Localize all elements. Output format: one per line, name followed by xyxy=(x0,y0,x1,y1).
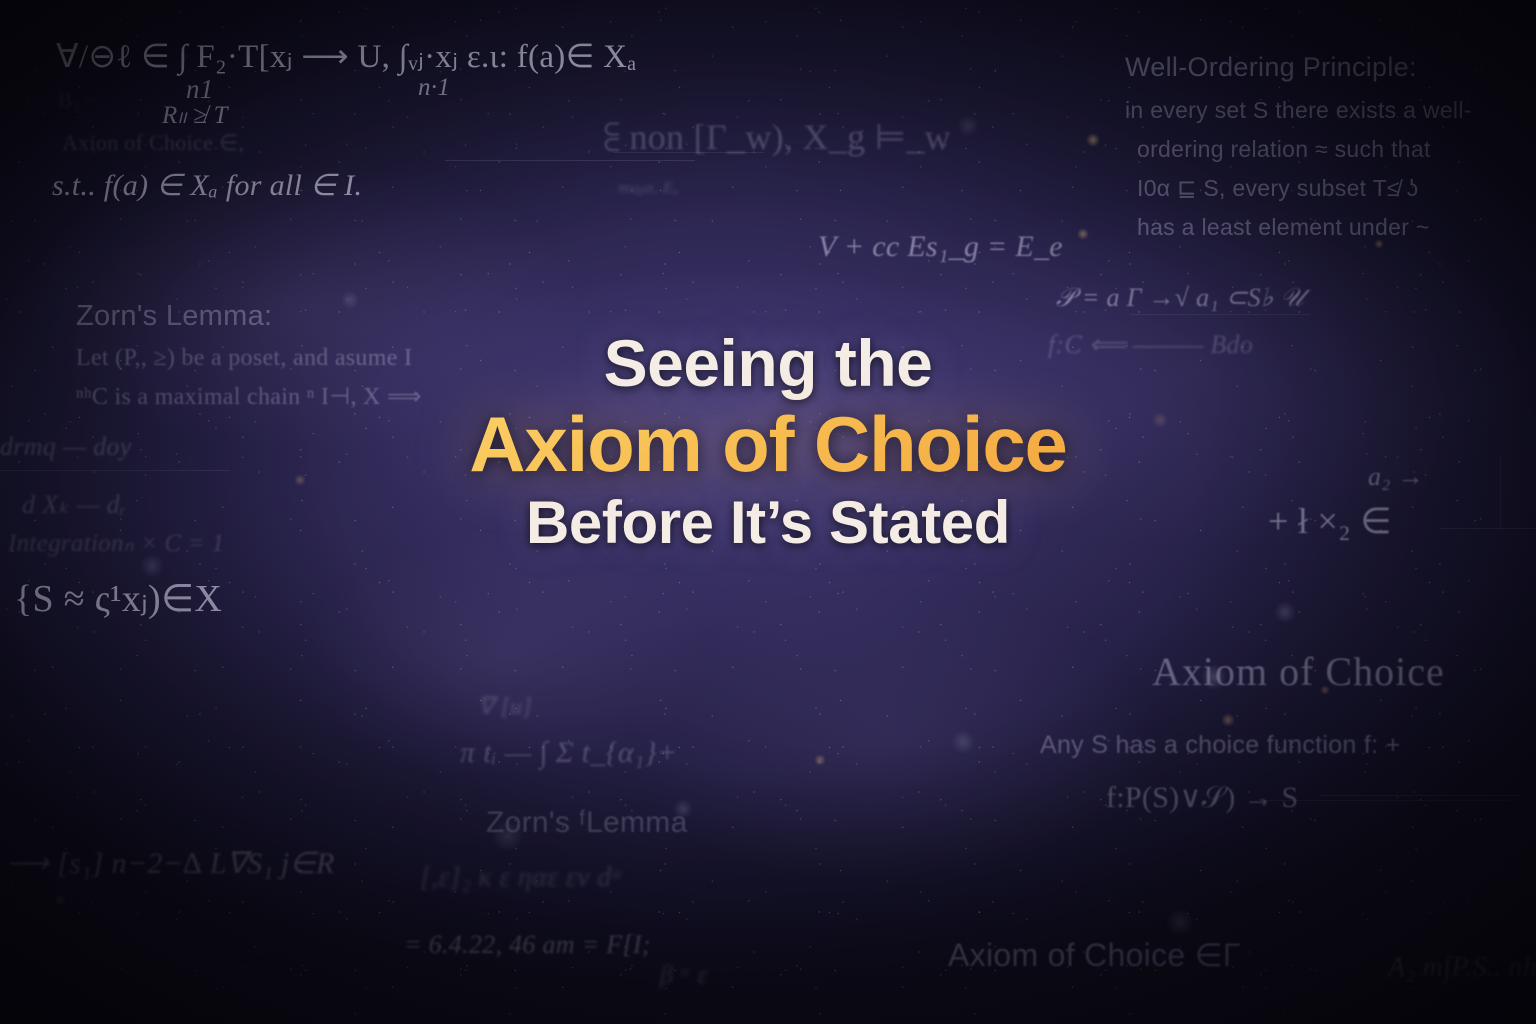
title-line-2-highlight: Axiom of Choice xyxy=(0,404,1536,486)
title-line-3: Before It’s Stated xyxy=(0,492,1536,554)
poster-title: Seeing the Axiom of Choice Before It’s S… xyxy=(0,330,1536,554)
title-line-1: Seeing the xyxy=(0,330,1536,398)
poster-canvas: ∀/⊖ℓ ∈ ∫ F₂·T[xⱼ ⟶ U, ∫ᵥⱼ·xⱼ ε.ι: f(a)∈ … xyxy=(0,0,1536,1024)
